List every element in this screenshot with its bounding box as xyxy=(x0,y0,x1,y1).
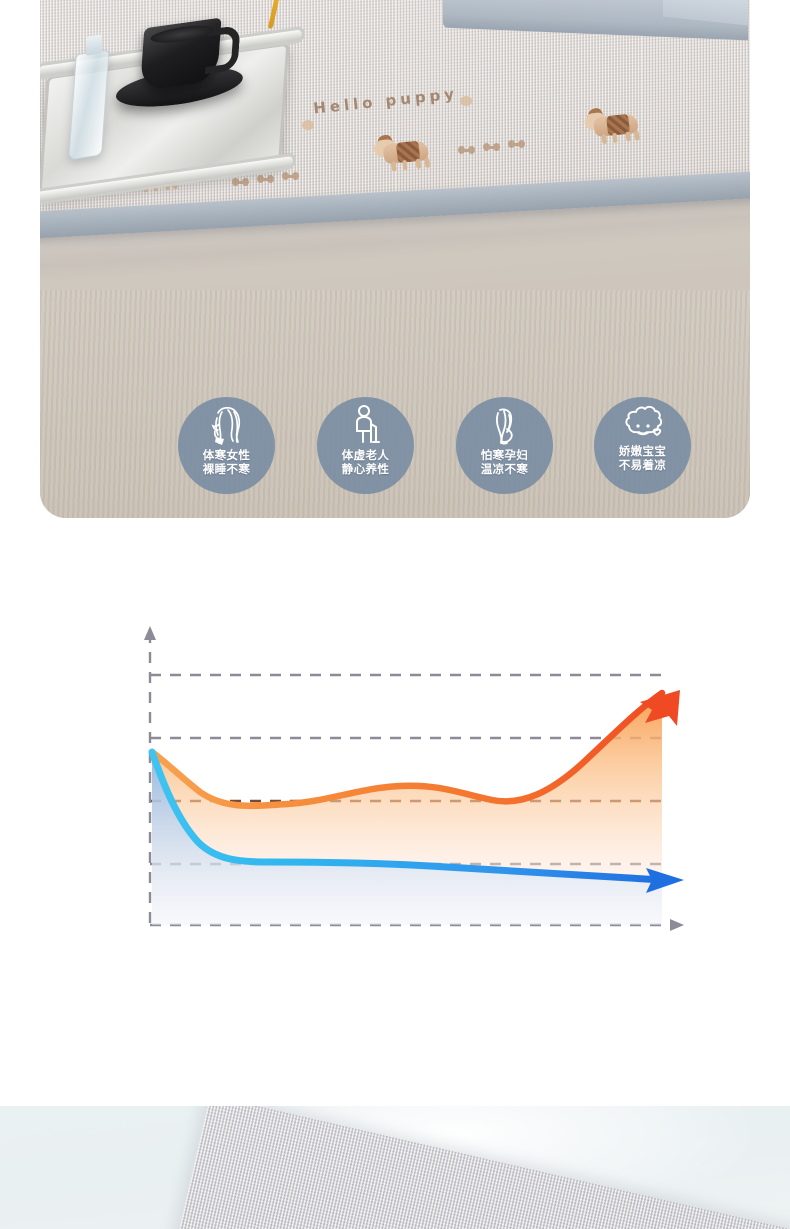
bone-print-5 xyxy=(483,143,500,151)
dog-print-3 xyxy=(583,103,650,147)
product-photo-bottom xyxy=(0,1106,790,1229)
elderly-cane-icon xyxy=(344,404,388,448)
product-photo-top: Hello puppy xyxy=(40,0,750,518)
woman-hair-icon xyxy=(204,404,250,448)
feature-badge-list: 体寒女性裸睡不寒 体虚老人静心养性 xyxy=(40,397,750,497)
y-axis-arrow-icon xyxy=(144,626,156,640)
badge-pregnant[interactable]: 怕寒孕妇温凉不寒 xyxy=(456,397,553,494)
badge-woman[interactable]: 体寒女性裸睡不寒 xyxy=(178,397,275,494)
bone-print-6 xyxy=(508,140,525,148)
pregnant-woman-icon xyxy=(483,404,527,448)
badge-label: 怕寒孕妇温凉不寒 xyxy=(481,449,529,476)
badge-label: 体寒女性裸睡不寒 xyxy=(203,449,251,476)
x-axis-arrow-icon xyxy=(670,919,684,931)
metal-tray xyxy=(40,1,297,219)
bone-print-4 xyxy=(458,146,475,154)
badge-label: 娇嫩宝宝不易着凉 xyxy=(619,445,667,472)
badge-label: 体虚老人静心养性 xyxy=(342,449,390,476)
badge-elderly[interactable]: 体虚老人静心养性 xyxy=(317,397,414,494)
straw xyxy=(268,0,285,29)
product-detail-page: Hello puppy xyxy=(0,0,790,1229)
paw-print-1 xyxy=(302,120,314,130)
dog-print-2 xyxy=(373,130,442,175)
badge-baby[interactable]: 娇嫩宝宝不易着凉 xyxy=(594,397,691,494)
baby-face-icon xyxy=(619,404,667,444)
temperature-chart-section: 温度°C xyxy=(0,560,790,1060)
paw-print-2 xyxy=(460,96,472,106)
temperature-chart xyxy=(0,560,790,1060)
